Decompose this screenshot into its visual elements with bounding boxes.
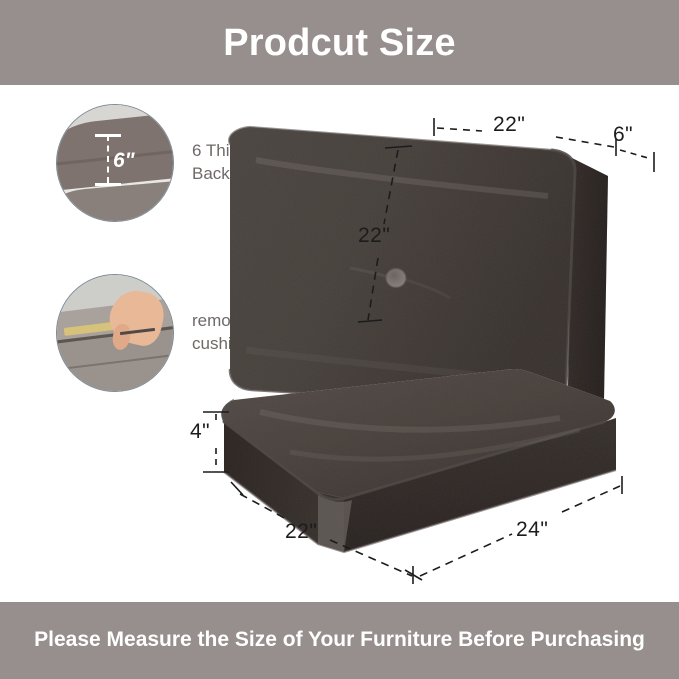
header-banner: Prodcut Size <box>0 0 679 85</box>
inset-dimension-label: 6" <box>113 149 135 173</box>
dimension-label-top-depth: 6" <box>613 123 633 147</box>
removable-covers-inset-photo <box>56 274 174 392</box>
dimension-label-seat-thickness: 4" <box>190 420 210 444</box>
back-cushion-graphic <box>229 127 608 407</box>
seat-cushion-graphic <box>221 369 616 552</box>
dimension-label-bottom-right: 24" <box>516 518 548 542</box>
product-illustration <box>200 100 679 600</box>
dimension-label-top-width: 22" <box>493 113 525 137</box>
page-title: Prodcut Size <box>223 24 456 62</box>
product-size-infographic: Prodcut Size 6" 6 Thick Back cushion <box>0 0 679 679</box>
back-cushion-inset-photo: 6" <box>56 104 174 222</box>
inset-tick-bottom <box>95 183 121 186</box>
dimension-label-back-height: 22" <box>358 224 390 248</box>
inset-dimension-line <box>107 135 109 183</box>
footer-banner: Please Measure the Size of Your Furnitur… <box>0 602 679 679</box>
footer-message: Please Measure the Size of Your Furnitur… <box>8 627 671 653</box>
dimension-label-bottom-left: 22" <box>285 520 317 544</box>
